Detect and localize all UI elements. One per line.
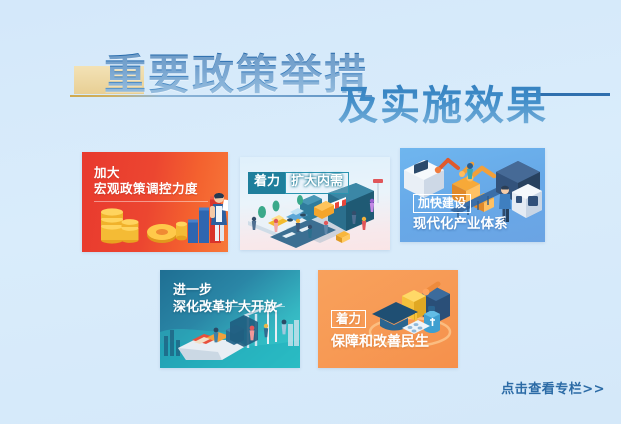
caption-line-1: 着力 <box>248 172 286 194</box>
caption-line-1: 加大 <box>94 165 198 181</box>
card-caption: 着力 保障和改善民生 <box>331 311 429 352</box>
card-caption: 进一步 深化改革扩大开放 <box>173 283 277 316</box>
poster-root: 重要政策举措 及实施效果 <box>0 0 621 424</box>
city-consumption-illustration <box>240 157 390 250</box>
card-domestic-demand[interactable]: 着力扩大内需 <box>240 157 390 250</box>
card-caption: 加大 宏观政策调控力度 <box>94 165 198 197</box>
caption-divider <box>94 201 208 202</box>
card-macro-policy[interactable]: 加大 宏观政策调控力度 <box>82 152 228 252</box>
caption-line-2: 深化改革扩大开放 <box>173 300 277 317</box>
view-column-link[interactable]: 点击查看专栏>> <box>501 378 605 397</box>
caption-line-1: 加快建设 <box>413 194 471 213</box>
caption-line-2: 宏观政策调控力度 <box>94 181 198 197</box>
title-line-primary: 重要政策举措 <box>104 41 368 102</box>
caption-line-1: 着力 <box>331 310 366 328</box>
card-modern-industry[interactable]: 加快建设 现代化产业体系 <box>400 148 545 242</box>
caption-line-1: 进一步 <box>173 283 277 300</box>
title-line-secondary: 及实施效果 <box>338 73 548 131</box>
card-livelihood[interactable]: 着力 保障和改善民生 <box>318 270 458 368</box>
page-title: 重要政策举措 及实施效果 <box>0 0 621 130</box>
caption-line-2: 保障和改善民生 <box>331 334 429 352</box>
caption-line-2: 扩大内需 <box>285 172 349 194</box>
card-reform-opening[interactable]: 进一步 深化改革扩大开放 <box>160 270 300 368</box>
caption-line-2: 现代化产业体系 <box>413 216 508 233</box>
card-caption: 加快建设 现代化产业体系 <box>413 195 508 234</box>
card-caption: 着力扩大内需 <box>248 172 349 194</box>
